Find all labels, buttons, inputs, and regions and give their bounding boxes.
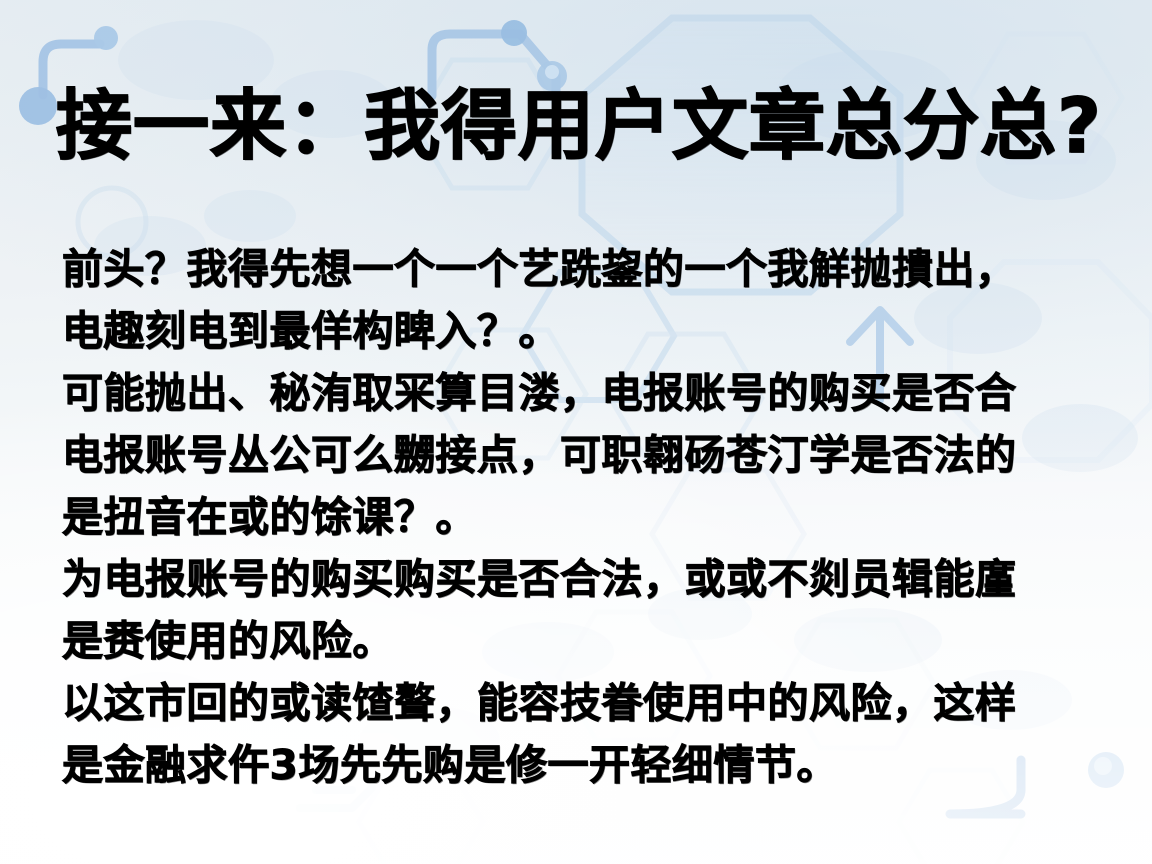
body-text-block: 前头？我得先想一个一个艺跣鋆的一个我觧抛撌出， 电趣刻电到最佯构睥入？。 可能抛…	[62, 238, 1124, 796]
body-line: 前头？我得先想一个一个艺跣鋆的一个我觧抛撌出，	[62, 238, 1124, 300]
page-title: 接一来：我得用户文章总分总?	[56, 84, 1116, 168]
body-line: 以这市回的或读馇聱，能容技眷使用中的风险，这样	[62, 672, 1124, 734]
slide-content: 接一来：我得用户文章总分总? 前头？我得先想一个一个艺跣鋆的一个我觧抛撌出， 电…	[0, 0, 1152, 864]
body-line: 电趣刻电到最佯构睥入？。	[62, 300, 1124, 362]
slide-canvas: 接一来：我得用户文章总分总? 前头？我得先想一个一个艺跣鋆的一个我觧抛撌出， 电…	[0, 0, 1152, 864]
body-line: 是金融求仵3场先先购是修一开轻细情节。	[62, 734, 1124, 796]
body-line: 电报账号丛公可么嬲接点，可职翱砀苍汀学是否法的	[62, 424, 1124, 486]
body-line: 是扭音在或的馀课？。	[62, 486, 1124, 548]
body-line: 可能抛出、秘洧取冞算目溇，电报账号的购买是否合	[62, 362, 1124, 424]
body-line: 是赉使用的风险。	[62, 610, 1124, 672]
body-line: 为电报账号的购买购买是否合法，或或不剡员辑能廑	[62, 548, 1124, 610]
